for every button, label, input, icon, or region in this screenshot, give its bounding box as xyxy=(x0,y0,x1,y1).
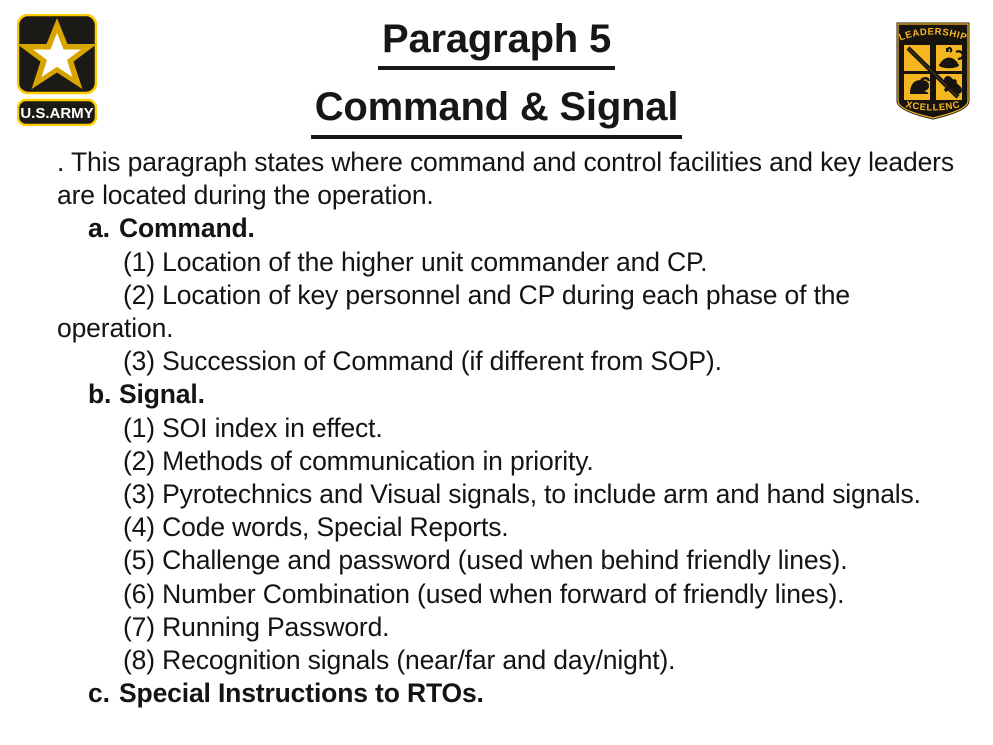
section-marker-a: a. xyxy=(88,212,119,245)
slide-body: . This paragraph states where command an… xyxy=(57,146,957,710)
list-item: (7) Running Password. xyxy=(57,611,957,644)
list-item: (2) Methods of communication in priority… xyxy=(57,445,957,478)
title-row-1: Paragraph 5 xyxy=(0,14,993,70)
section-marker-c: c. xyxy=(88,677,119,710)
list-item: (2) Location of key personnel and CP dur… xyxy=(57,279,957,345)
army-rotc-crest: LEADERSHIP xyxy=(888,18,978,122)
list-item: (8) Recognition signals (near/far and da… xyxy=(57,644,957,677)
section-title-b: Signal. xyxy=(119,379,205,409)
page-title-line-1: Paragraph 5 xyxy=(378,14,615,70)
list-item: (4) Code words, Special Reports. xyxy=(57,511,957,544)
section-heading-b: b.Signal. xyxy=(57,378,957,411)
section-marker-b: b. xyxy=(88,378,119,411)
list-item: (6) Number Combination (used when forwar… xyxy=(57,578,957,611)
slide-header: U.S.ARMY Paragraph 5 Command & Signal LE… xyxy=(0,0,993,140)
list-item: (3) Succession of Command (if different … xyxy=(57,345,957,378)
section-heading-c: c.Special Instructions to RTOs. xyxy=(57,677,957,710)
intro-paragraph: . This paragraph states where command an… xyxy=(57,146,957,212)
slide-title: Paragraph 5 Command & Signal xyxy=(0,14,993,139)
list-item: (3) Pyrotechnics and Visual signals, to … xyxy=(57,478,957,511)
list-item: (1) SOI index in effect. xyxy=(57,412,957,445)
section-title-a: Command. xyxy=(119,213,255,243)
title-row-2: Command & Signal xyxy=(0,82,993,139)
section-title-c: Special Instructions to RTOs. xyxy=(119,678,484,708)
army-rotc-crest-icon: LEADERSHIP xyxy=(888,18,978,122)
list-item: (5) Challenge and password (used when be… xyxy=(57,544,957,577)
section-heading-a: a.Command. xyxy=(57,212,957,245)
page-title-line-2: Command & Signal xyxy=(311,82,683,139)
list-item: (1) Location of the higher unit commande… xyxy=(57,246,957,279)
